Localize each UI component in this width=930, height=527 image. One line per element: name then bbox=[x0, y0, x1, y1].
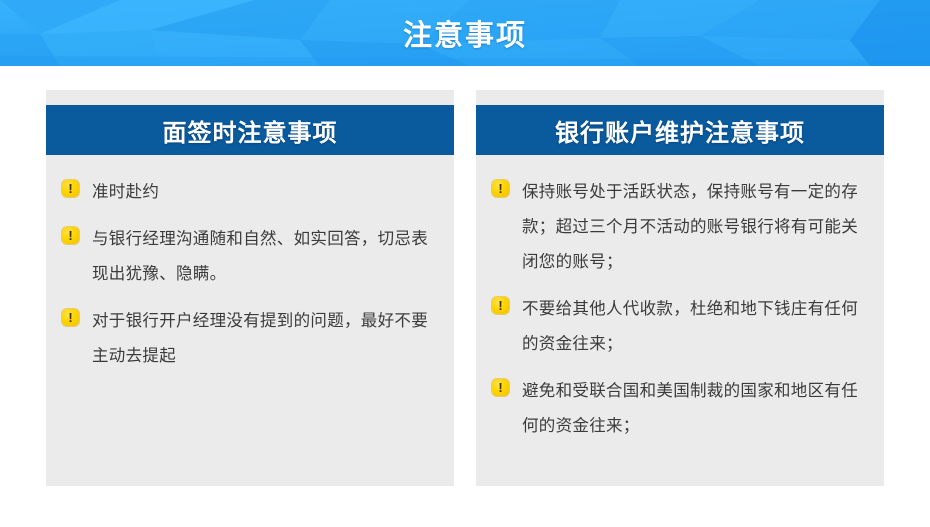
page-root: 注意事项 面签时注意事项 ! 准时赴约 ! 与银行经理沟通随和自然、如实回答，切… bbox=[0, 0, 930, 527]
panel-interview-header: 面签时注意事项 bbox=[46, 105, 454, 155]
panel-account-maintenance-title: 银行账户维护注意事项 bbox=[555, 113, 805, 148]
warning-exclamation-icon: ! bbox=[62, 180, 79, 197]
list-item: ! 与银行经理沟通随和自然、如实回答，切忌表现出犹豫、隐瞒。 bbox=[62, 222, 432, 292]
warning-exclamation-icon: ! bbox=[62, 309, 79, 326]
list-item-text: 准时赴约 bbox=[92, 175, 159, 210]
list-item: ! 不要给其他人代收款，杜绝和地下钱庄有任何的资金往来； bbox=[492, 292, 862, 362]
panel-interview-body: ! 准时赴约 ! 与银行经理沟通随和自然、如实回答，切忌表现出犹豫、隐瞒。 ! … bbox=[46, 155, 454, 486]
list-item: ! 对于银行开户经理没有提到的问题，最好不要主动去提起 bbox=[62, 304, 432, 374]
list-item: ! 保持账号处于活跃状态，保持账号有一定的存款；超过三个月不活动的账号银行将有可… bbox=[492, 175, 862, 280]
list-item-text: 与银行经理沟通随和自然、如实回答，切忌表现出犹豫、隐瞒。 bbox=[92, 222, 432, 292]
panel-account-maintenance: 银行账户维护注意事项 ! 保持账号处于活跃状态，保持账号有一定的存款；超过三个月… bbox=[476, 90, 884, 486]
warning-exclamation-icon: ! bbox=[492, 297, 509, 314]
warning-exclamation-icon: ! bbox=[492, 180, 509, 197]
list-item: ! 避免和受联合国和美国制裁的国家和地区有任何的资金往来； bbox=[492, 374, 862, 444]
banner-title: 注意事项 bbox=[0, 0, 930, 66]
list-item-text: 保持账号处于活跃状态，保持账号有一定的存款；超过三个月不活动的账号银行将有可能关… bbox=[522, 175, 862, 280]
list-item-text: 对于银行开户经理没有提到的问题，最好不要主动去提起 bbox=[92, 304, 432, 374]
panel-account-maintenance-body: ! 保持账号处于活跃状态，保持账号有一定的存款；超过三个月不活动的账号银行将有可… bbox=[476, 155, 884, 486]
warning-exclamation-icon: ! bbox=[62, 227, 79, 244]
list-item: ! 准时赴约 bbox=[62, 175, 432, 210]
panels-container: 面签时注意事项 ! 准时赴约 ! 与银行经理沟通随和自然、如实回答，切忌表现出犹… bbox=[46, 90, 884, 486]
list-item-text: 避免和受联合国和美国制裁的国家和地区有任何的资金往来； bbox=[522, 374, 862, 444]
warning-exclamation-icon: ! bbox=[492, 379, 509, 396]
list-item-text: 不要给其他人代收款，杜绝和地下钱庄有任何的资金往来； bbox=[522, 292, 862, 362]
panel-interview-title: 面签时注意事项 bbox=[163, 113, 338, 148]
panel-account-maintenance-header: 银行账户维护注意事项 bbox=[476, 105, 884, 155]
page-banner: 注意事项 bbox=[0, 0, 930, 66]
panel-interview: 面签时注意事项 ! 准时赴约 ! 与银行经理沟通随和自然、如实回答，切忌表现出犹… bbox=[46, 90, 454, 486]
